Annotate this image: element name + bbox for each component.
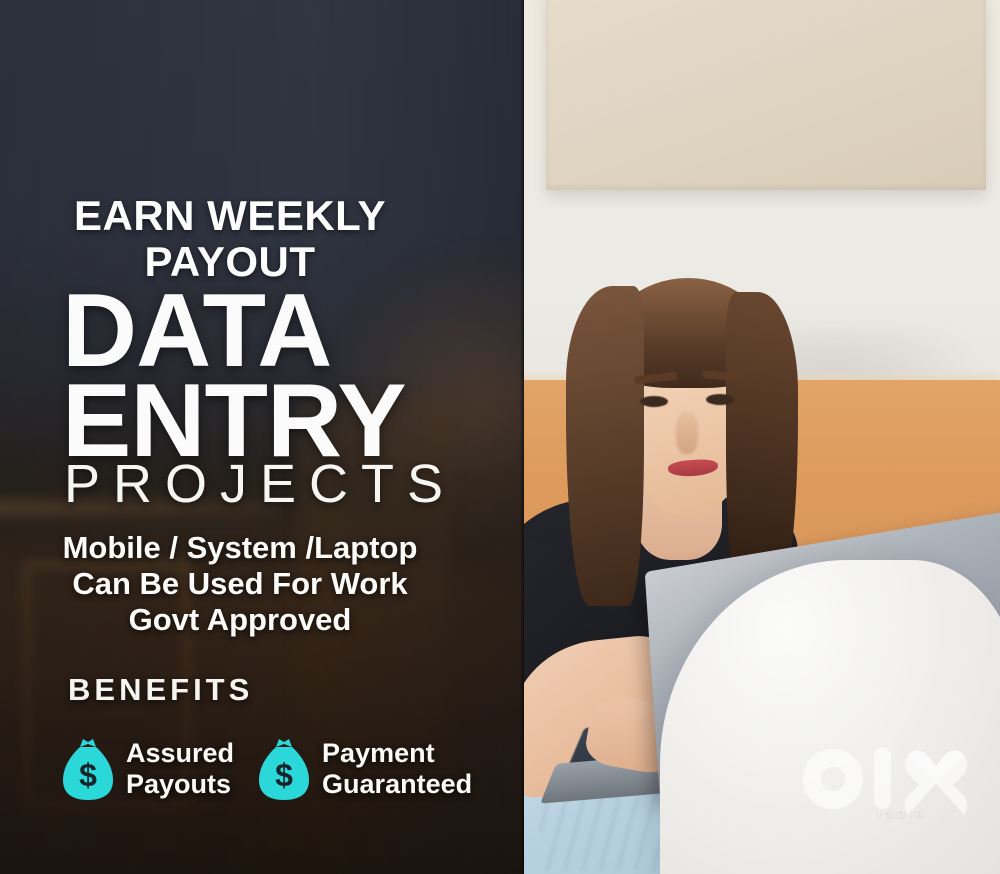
- benefit-item-payment-guaranteed: $ Payment Guaranteed: [256, 736, 472, 802]
- svg-text:$: $: [79, 757, 97, 793]
- kicker-text: EARN WEEKLY PAYOUT: [0, 193, 460, 285]
- money-bag-icon: $: [60, 736, 116, 802]
- headline-projects: PROJECTS: [64, 456, 456, 512]
- olx-region-label: INDIA: [878, 808, 927, 820]
- benefits-heading: BENEFITS: [68, 672, 253, 708]
- benefit-label: Payment Guaranteed: [322, 738, 472, 800]
- eye-right: [706, 394, 734, 405]
- money-bag-icon: $: [256, 736, 312, 802]
- kicker-line-1: EARN WEEKLY: [74, 192, 386, 239]
- canvas-artwork: [546, 0, 986, 190]
- subtext-line-1: Mobile / System /Laptop: [0, 530, 480, 566]
- subtext-line-3: Govt Approved: [0, 602, 480, 638]
- benefits-list: $ Assured Payouts $ Payment Guaranteed: [60, 736, 530, 802]
- subtext-line-2: Can Be Used For Work: [0, 566, 480, 602]
- benefit-label: Assured Payouts: [126, 738, 234, 800]
- nose: [676, 412, 698, 454]
- olx-watermark: INDIA: [800, 745, 970, 840]
- hair-strand-left: [566, 286, 644, 606]
- ad-copy: EARN WEEKLY PAYOUT DATA ENTRY PROJECTS M…: [0, 0, 524, 874]
- svg-text:$: $: [275, 757, 293, 793]
- eye-left: [640, 396, 668, 407]
- benefit-item-assured-payouts: $ Assured Payouts: [60, 736, 234, 802]
- advertisement-canvas: EARN WEEKLY PAYOUT DATA ENTRY PROJECTS M…: [0, 0, 1000, 874]
- subtext-block: Mobile / System /Laptop Can Be Used For …: [0, 530, 480, 638]
